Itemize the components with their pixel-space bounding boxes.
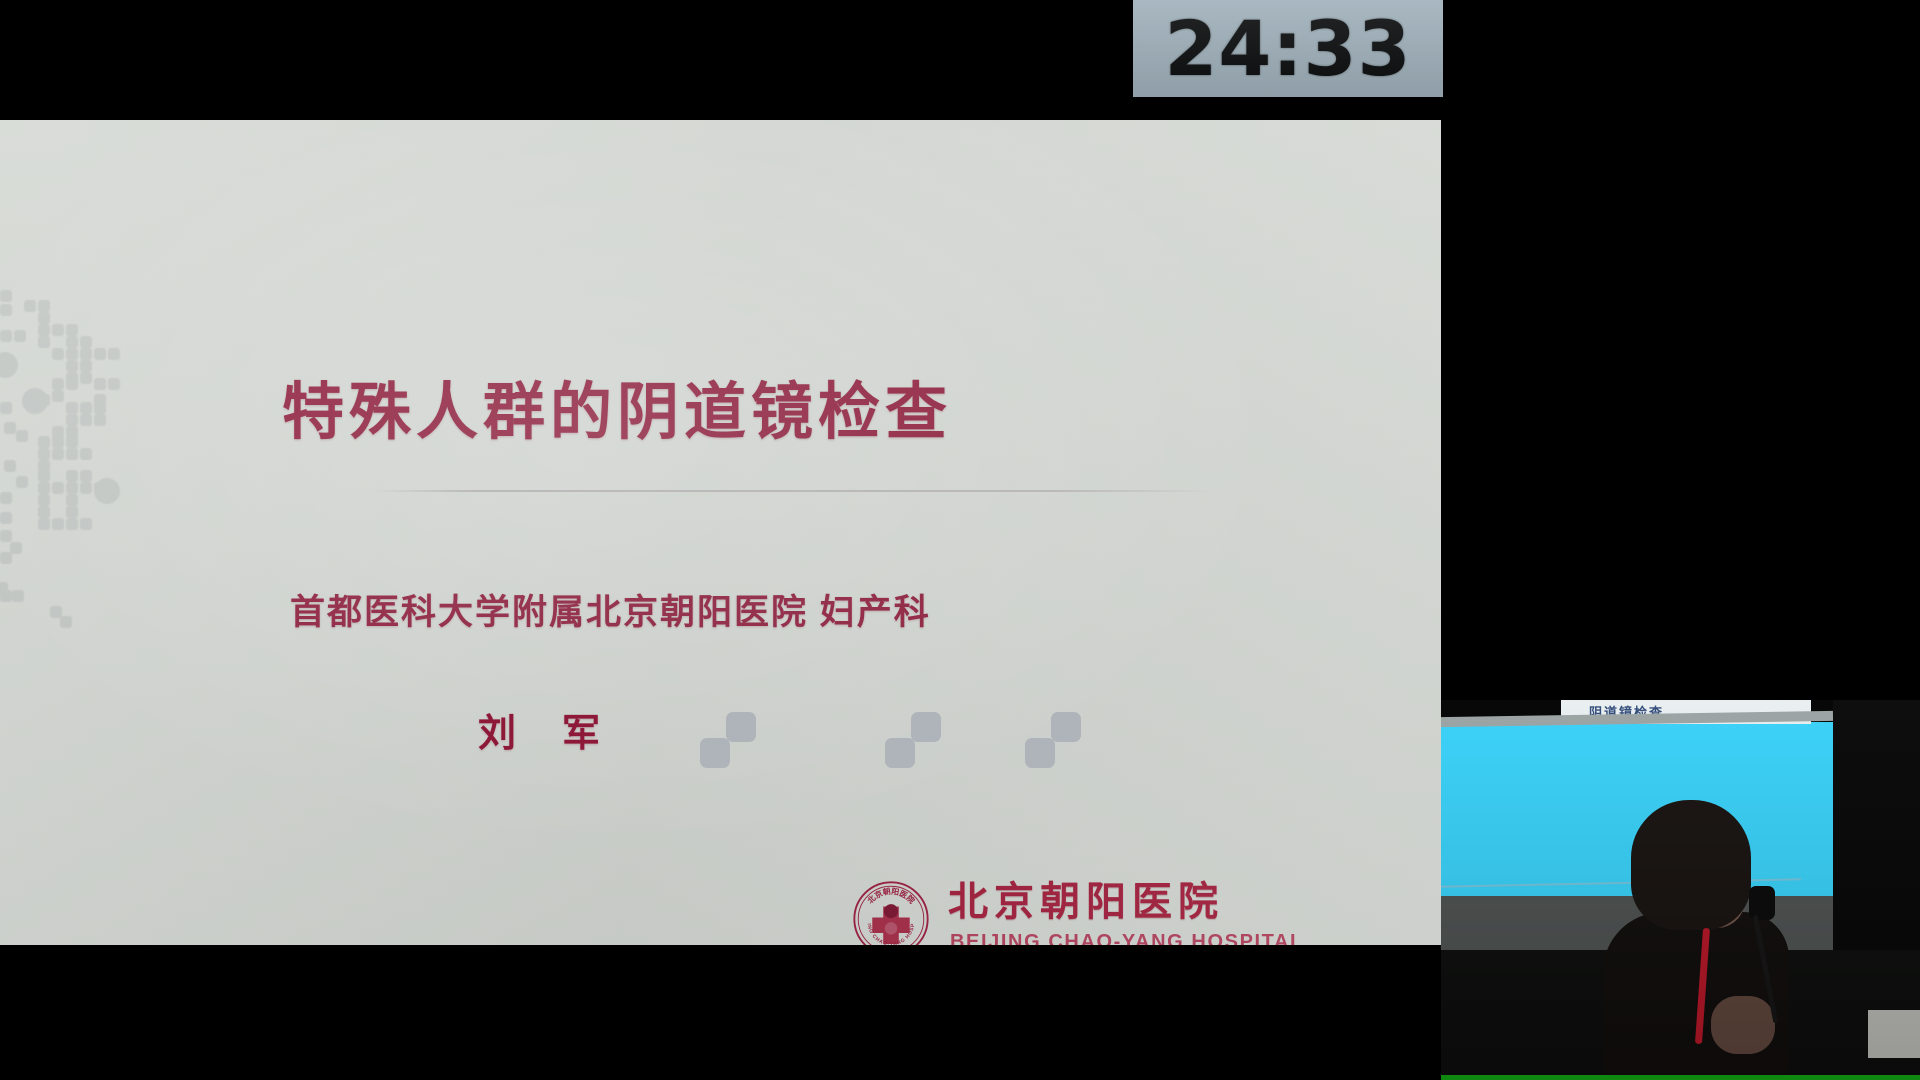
- countdown-timer: 24:33: [1133, 0, 1443, 97]
- slide-title: 特殊人群的阴道镜检查: [282, 382, 1182, 444]
- presenter-figure: [1591, 800, 1781, 1080]
- hospital-logo-english: BEIJING CHAO-YANG HOSPITAL: [950, 932, 1304, 945]
- countdown-timer-value: 24:33: [1165, 11, 1412, 87]
- hospital-seal-icon: 北京朝阳医院 BEIJING CHAO-YANG HOSPITAL: [852, 880, 930, 945]
- presenter-hair: [1631, 800, 1751, 930]
- presenter-camera-feed[interactable]: 阴道镜检查: [1441, 700, 1920, 1080]
- mosaic-watermark-decoration: [0, 290, 182, 910]
- stage-corner-panel: [1868, 1010, 1920, 1058]
- presentation-slide: 特殊人群的阴道镜检查 首都医科大学附属北京朝阳医院 妇产科 刘军 北: [0, 120, 1441, 945]
- presenter-hand: [1711, 996, 1775, 1054]
- slide-presenter-name: 刘军: [478, 715, 602, 753]
- screen-root: 24:33 特殊人群的阴道镜检查 首都医科大学附属北京朝阳医院 妇产科 刘军: [0, 0, 1920, 1080]
- hospital-logo: 北京朝阳医院 BEIJING CHAO-YANG HOSPITAL 北京朝阳医院…: [852, 880, 1212, 945]
- svg-text:北京朝阳医院: 北京朝阳医院: [865, 886, 917, 906]
- slide-affiliation: 首都医科大学附属北京朝阳医院 妇产科: [290, 595, 1190, 630]
- title-underline-rule: [373, 490, 1216, 492]
- presenter-surname: 刘: [478, 713, 518, 755]
- presenter-given-name: 军: [562, 713, 602, 755]
- video-bottom-strip: [1441, 1075, 1920, 1080]
- hospital-logo-chinese: 北京朝阳医院: [948, 882, 1224, 922]
- stage-dark-area: [1833, 700, 1920, 980]
